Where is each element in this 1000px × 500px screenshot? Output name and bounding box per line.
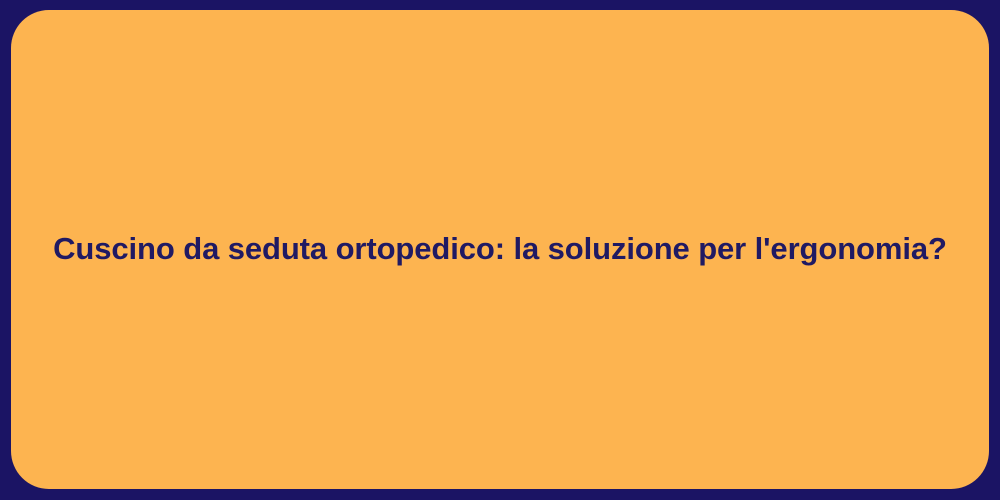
- content-card: Cuscino da seduta ortopedico: la soluzio…: [11, 10, 989, 489]
- page-canvas: Cuscino da seduta ortopedico: la soluzio…: [0, 0, 1000, 500]
- card-content-area: Cuscino da seduta ortopedico: la soluzio…: [11, 230, 989, 269]
- headline-text: Cuscino da seduta ortopedico: la soluzio…: [53, 230, 947, 269]
